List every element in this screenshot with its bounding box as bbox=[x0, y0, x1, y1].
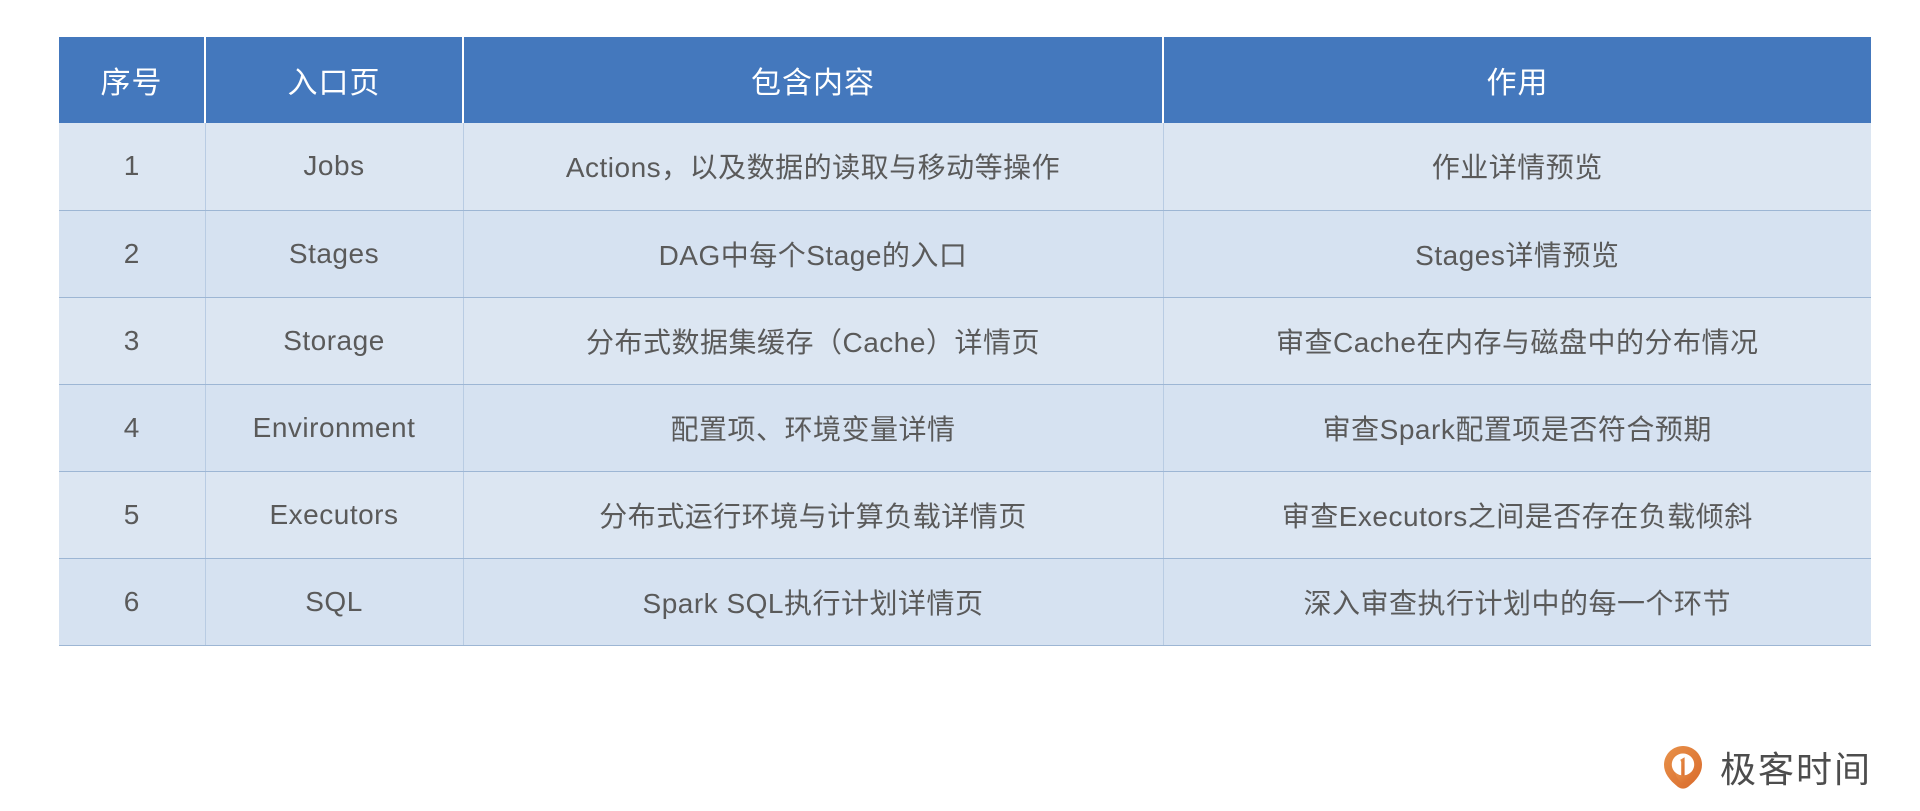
cell-page: SQL bbox=[205, 558, 463, 645]
cell-purpose: Stages详情预览 bbox=[1163, 210, 1871, 297]
cell-purpose: 审查Spark配置项是否符合预期 bbox=[1163, 384, 1871, 471]
table-row: 6 SQL Spark SQL执行计划详情页 深入审查执行计划中的每一个环节 bbox=[59, 558, 1871, 645]
cell-purpose: 作业详情预览 bbox=[1163, 123, 1871, 210]
spark-ui-entry-pages-table: 序号 入口页 包含内容 作用 1 Jobs Actions，以及数据的读取与移动… bbox=[59, 37, 1871, 646]
cell-content: DAG中每个Stage的入口 bbox=[463, 210, 1163, 297]
cell-index: 4 bbox=[59, 384, 205, 471]
cell-page: Storage bbox=[205, 297, 463, 384]
brand-logo: 极客时间 bbox=[1660, 741, 1872, 793]
cell-purpose: 审查Executors之间是否存在负载倾斜 bbox=[1163, 471, 1871, 558]
cell-index: 2 bbox=[59, 210, 205, 297]
cell-content: 分布式数据集缓存（Cache）详情页 bbox=[463, 297, 1163, 384]
table-row: 3 Storage 分布式数据集缓存（Cache）详情页 审查Cache在内存与… bbox=[59, 297, 1871, 384]
cell-index: 3 bbox=[59, 297, 205, 384]
spark-ui-table-container: 序号 入口页 包含内容 作用 1 Jobs Actions，以及数据的读取与移动… bbox=[59, 37, 1871, 646]
cell-purpose: 审查Cache在内存与磁盘中的分布情况 bbox=[1163, 297, 1871, 384]
column-header-content: 包含内容 bbox=[463, 37, 1163, 123]
table-header-row: 序号 入口页 包含内容 作用 bbox=[59, 37, 1871, 123]
cell-index: 5 bbox=[59, 471, 205, 558]
table-body: 1 Jobs Actions，以及数据的读取与移动等操作 作业详情预览 2 St… bbox=[59, 123, 1871, 645]
column-header-page: 入口页 bbox=[205, 37, 463, 123]
cell-purpose: 深入审查执行计划中的每一个环节 bbox=[1163, 558, 1871, 645]
cell-content: Actions，以及数据的读取与移动等操作 bbox=[463, 123, 1163, 210]
page-canvas: 序号 入口页 包含内容 作用 1 Jobs Actions，以及数据的读取与移动… bbox=[0, 0, 1920, 811]
brand-name: 极客时间 bbox=[1720, 741, 1872, 793]
cell-page: Jobs bbox=[205, 123, 463, 210]
table-row: 2 Stages DAG中每个Stage的入口 Stages详情预览 bbox=[59, 210, 1871, 297]
cell-content: 配置项、环境变量详情 bbox=[463, 384, 1163, 471]
table-header: 序号 入口页 包含内容 作用 bbox=[59, 37, 1871, 123]
cell-index: 1 bbox=[59, 123, 205, 210]
cell-page: Environment bbox=[205, 384, 463, 471]
table-row: 5 Executors 分布式运行环境与计算负载详情页 审查Executors之… bbox=[59, 471, 1871, 558]
cell-content: 分布式运行环境与计算负载详情页 bbox=[463, 471, 1163, 558]
column-header-index: 序号 bbox=[59, 37, 205, 123]
cell-content: Spark SQL执行计划详情页 bbox=[463, 558, 1163, 645]
cell-index: 6 bbox=[59, 558, 205, 645]
geektime-pin-icon bbox=[1660, 744, 1706, 790]
cell-page: Stages bbox=[205, 210, 463, 297]
cell-page: Executors bbox=[205, 471, 463, 558]
table-row: 4 Environment 配置项、环境变量详情 审查Spark配置项是否符合预… bbox=[59, 384, 1871, 471]
table-row: 1 Jobs Actions，以及数据的读取与移动等操作 作业详情预览 bbox=[59, 123, 1871, 210]
column-header-purpose: 作用 bbox=[1163, 37, 1871, 123]
